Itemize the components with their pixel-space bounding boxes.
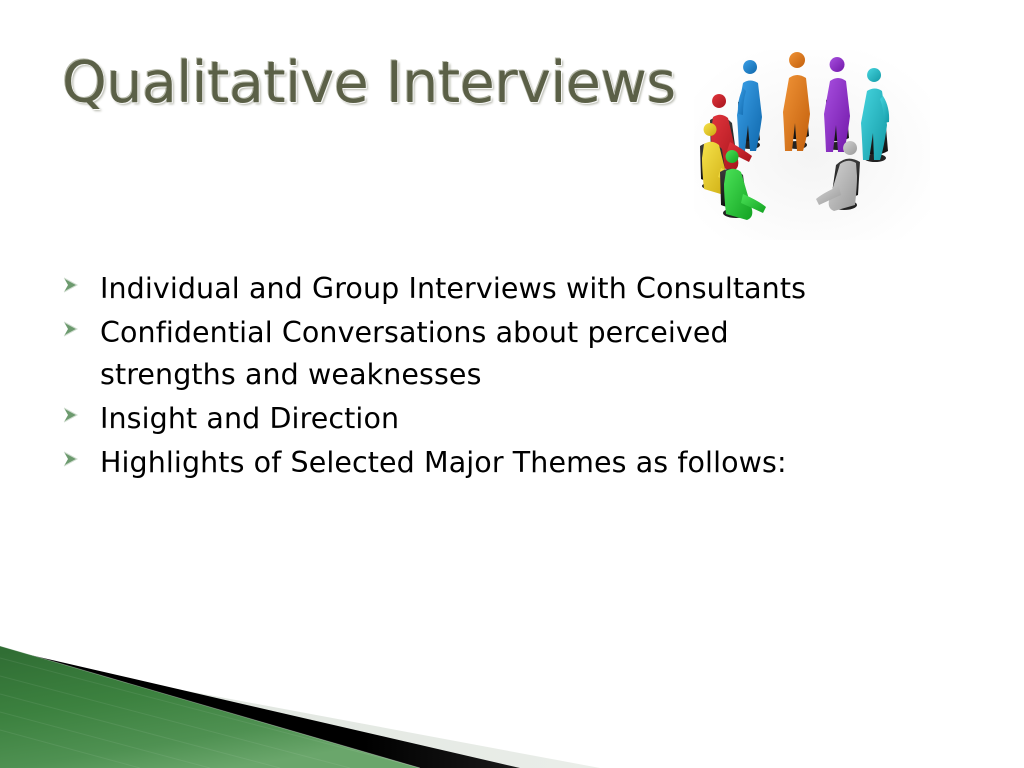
bullet-list: Individual and Group Interviews with Con…: [62, 268, 942, 486]
bullet-item-3: Insight and Direction: [62, 398, 942, 440]
bullet-item-4-text: Highlights of Selected Major Themes as f…: [100, 442, 900, 484]
bullet-item-3-text: Insight and Direction: [100, 398, 900, 440]
angles-theme-bottom-left-wedge: [0, 598, 1024, 768]
slide-title: Qualitative Interviews: [62, 52, 702, 116]
green-arrowhead-bullet-icon: [62, 312, 100, 337]
green-arrowhead-bullet-icon: [62, 398, 100, 423]
bullet-item-2-text: Confidential Conversations about perceiv…: [100, 312, 845, 396]
bullet-item-2: Confidential Conversations about perceiv…: [62, 312, 942, 396]
green-arrowhead-bullet-icon: [62, 442, 100, 467]
bullet-item-4: Highlights of Selected Major Themes as f…: [62, 442, 942, 484]
green-arrowhead-bullet-icon: [62, 268, 100, 293]
bullet-item-1: Individual and Group Interviews with Con…: [62, 268, 942, 310]
presentation-slide: Qualitative Interviews: [0, 0, 1024, 768]
bullet-item-1-text: Individual and Group Interviews with Con…: [100, 268, 900, 310]
group-of-people-seated-in-circle-on-office-chairs-image: [694, 50, 930, 240]
